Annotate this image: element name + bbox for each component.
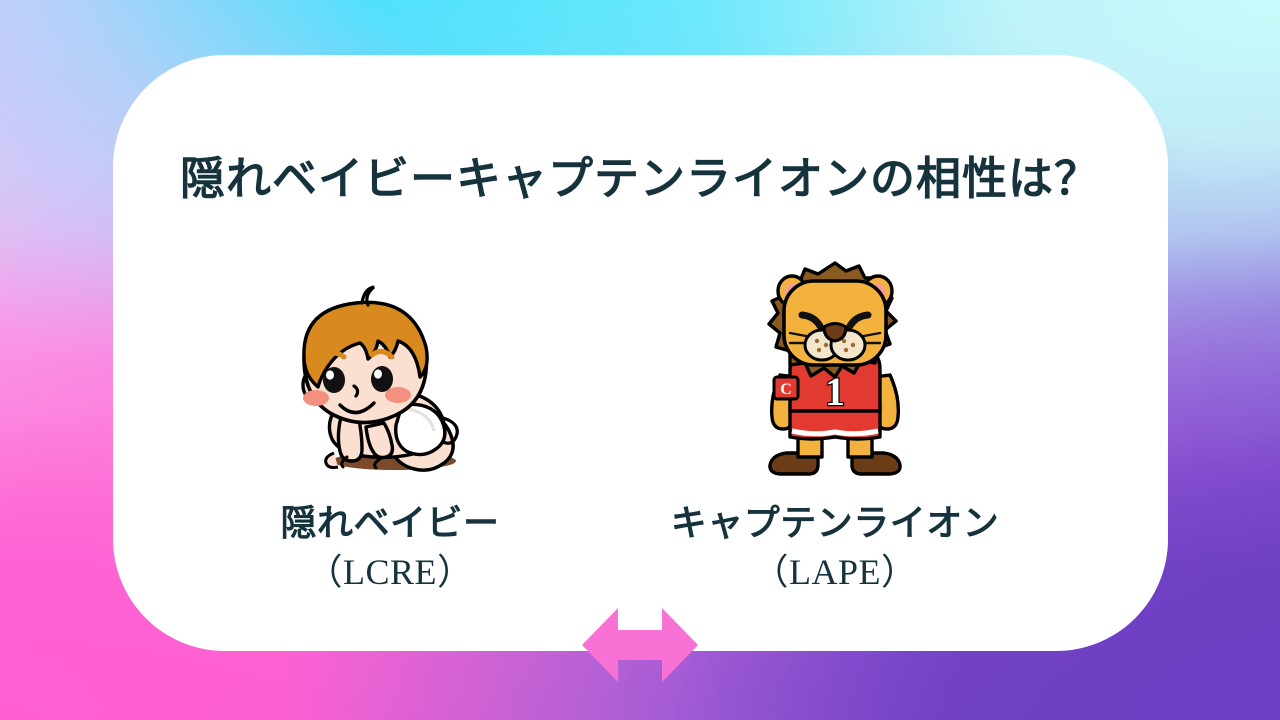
comparison-right-code: （LAPE） <box>655 549 1015 596</box>
crawling-baby-illustration <box>210 260 570 485</box>
page-title: 隠れベイビーキャプテンライオンの相性は？ <box>0 142 1280 207</box>
comparison-row: 隠れベイビー （LCRE） <box>0 260 1280 620</box>
comparison-left: 隠れベイビー （LCRE） <box>210 260 570 595</box>
comparison-left-code: （LCRE） <box>210 549 570 596</box>
double-headed-arrow-icon <box>580 600 700 690</box>
comparison-right: 1 C <box>655 260 1015 595</box>
armband-letter: C <box>780 381 792 398</box>
comparison-right-name: キャプテンライオン <box>655 499 1015 549</box>
crawling-baby-icon <box>290 285 490 485</box>
comparison-left-name: 隠れベイビー <box>210 499 570 549</box>
captain-lion-illustration: 1 C <box>655 260 1015 485</box>
double-headed-arrow <box>580 600 700 690</box>
captain-lion-mascot-icon: 1 C <box>746 257 924 485</box>
